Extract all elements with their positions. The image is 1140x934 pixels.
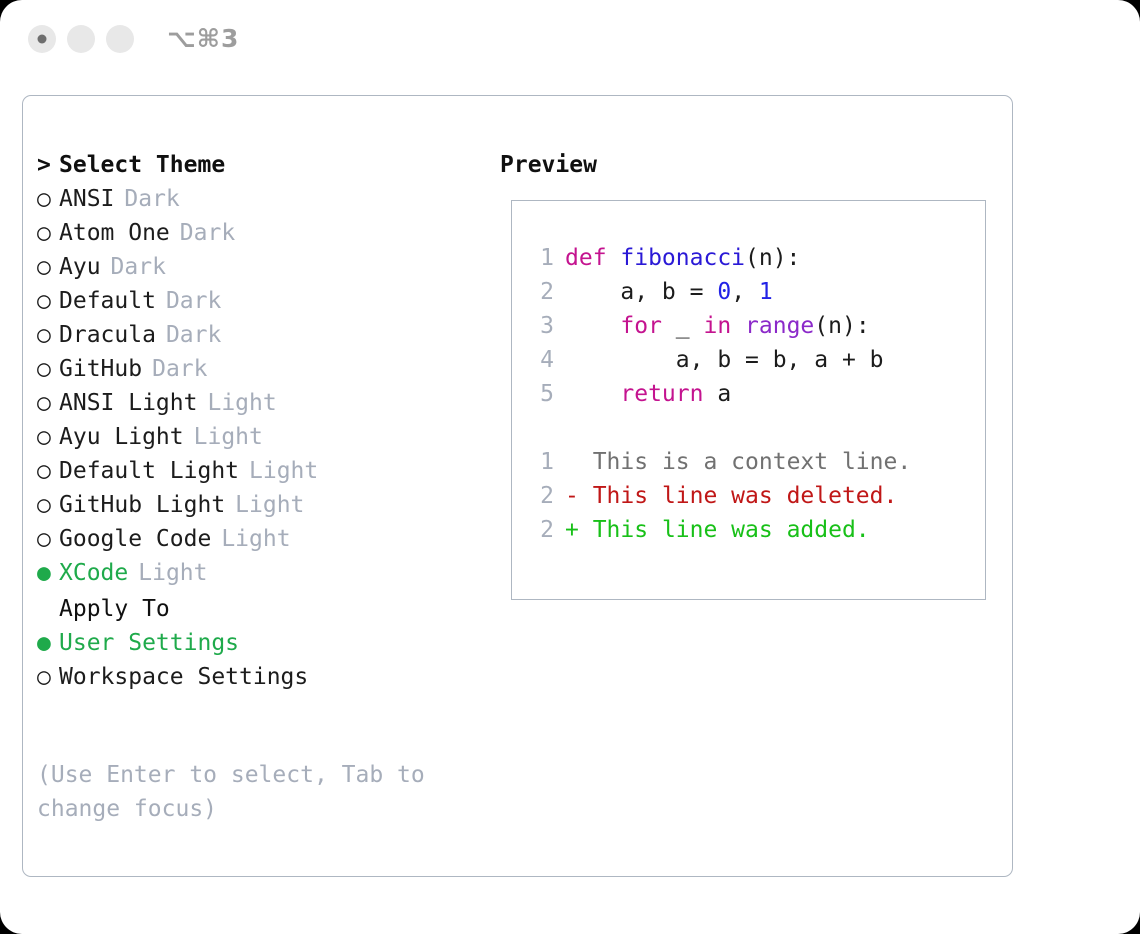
radio-selected-icon: ●: [37, 556, 59, 590]
theme-list-item[interactable]: ○Default LightLight: [37, 454, 477, 488]
theme-name-label: GitHub Light: [59, 492, 225, 518]
theme-name-label: ANSI Light: [59, 390, 197, 416]
code-token: [565, 381, 620, 407]
code-line-number: 2: [522, 275, 554, 309]
code-token: [731, 313, 745, 339]
apply-to-header: Apply To: [37, 592, 477, 626]
close-button-icon[interactable]: [28, 25, 56, 53]
main-panel: >Select Theme ○ANSIDark○Atom OneDark○Ayu…: [22, 95, 1013, 877]
apply-to-section: Apply To ●User Settings○Workspace Settin…: [37, 592, 477, 694]
preview-title: Preview: [500, 148, 1000, 182]
theme-name-label: Dracula: [59, 322, 156, 348]
code-token: _: [662, 313, 704, 339]
theme-variant-badge: Dark: [166, 288, 221, 314]
code-line: 3 for _ in range(n):: [522, 309, 977, 343]
radio-unselected-icon: ○: [37, 182, 59, 216]
theme-variant-badge: Light: [138, 560, 207, 586]
diff-line: 2- This line was deleted.: [522, 479, 977, 513]
theme-variant-badge: Light: [249, 458, 318, 484]
code-line: 4 a, b = b, a + b: [522, 343, 977, 377]
theme-variant-badge: Light: [207, 390, 276, 416]
radio-unselected-icon: ○: [37, 488, 59, 522]
theme-list-item[interactable]: ○Google CodeLight: [37, 522, 477, 556]
theme-variant-badge: Light: [194, 424, 263, 450]
code-line-number: 2: [522, 479, 554, 513]
theme-variant-badge: Dark: [152, 356, 207, 382]
radio-unselected-icon: ○: [37, 454, 59, 488]
code-token: range: [745, 313, 814, 339]
theme-name-label: GitHub: [59, 356, 142, 382]
radio-unselected-icon: ○: [37, 250, 59, 284]
theme-name-label: Default: [59, 288, 156, 314]
theme-list-item[interactable]: ○DraculaDark: [37, 318, 477, 352]
traffic-light-group: [28, 25, 134, 53]
code-line: 5 return a: [522, 377, 977, 411]
code-token: (n):: [745, 245, 800, 271]
theme-list: ○ANSIDark○Atom OneDark○AyuDark○DefaultDa…: [37, 182, 477, 590]
radio-unselected-icon: ○: [37, 318, 59, 352]
apply-to-label: User Settings: [59, 630, 239, 656]
theme-list-item[interactable]: ○AyuDark: [37, 250, 477, 284]
theme-variant-badge: Dark: [111, 254, 166, 280]
theme-name-label: Ayu: [59, 254, 101, 280]
diff-marker: -: [565, 483, 593, 509]
theme-name-label: Atom One: [59, 220, 170, 246]
theme-picker-header-label: Select Theme: [59, 152, 225, 178]
theme-variant-badge: Dark: [180, 220, 235, 246]
code-token: fibonacci: [620, 245, 745, 271]
code-line: 2 a, b = 0, 1: [522, 275, 977, 309]
theme-name-label: XCode: [59, 560, 128, 586]
radio-unselected-icon: ○: [37, 522, 59, 556]
code-line-number: 3: [522, 309, 554, 343]
code-token: a, b =: [565, 279, 717, 305]
apply-to-list: ●User Settings○Workspace Settings: [37, 626, 477, 694]
preview-section: Preview 1def fibonacci(n):2 a, b = 0, 13…: [500, 148, 1000, 182]
code-preview: 1def fibonacci(n):2 a, b = 0, 13 for _ i…: [522, 241, 977, 547]
code-token: in: [703, 313, 731, 339]
code-line: 1def fibonacci(n):: [522, 241, 977, 275]
radio-unselected-icon: ○: [37, 660, 59, 694]
minimize-button-icon[interactable]: [67, 25, 95, 53]
radio-unselected-icon: ○: [37, 352, 59, 386]
radio-unselected-icon: ○: [37, 386, 59, 420]
theme-list-item[interactable]: ○DefaultDark: [37, 284, 477, 318]
code-line-number: 1: [522, 241, 554, 275]
code-token: 0: [717, 279, 731, 305]
app-window: ⌥⌘3 >Select Theme ○ANSIDark○Atom OneDark…: [0, 0, 1140, 934]
theme-list-item[interactable]: ○Ayu LightLight: [37, 420, 477, 454]
theme-list-item[interactable]: ●XCodeLight: [37, 556, 477, 590]
theme-variant-badge: Dark: [124, 186, 179, 212]
keyboard-hint-text: (Use Enter to select, Tab to change focu…: [37, 758, 457, 826]
code-line-number: 1: [522, 445, 554, 479]
diff-marker: [565, 449, 593, 475]
code-token: (n):: [814, 313, 869, 339]
code-token: [565, 313, 620, 339]
code-token: ,: [731, 279, 759, 305]
diff-text: This is a context line.: [593, 449, 912, 475]
code-token: def: [565, 245, 620, 271]
theme-name-label: Default Light: [59, 458, 239, 484]
theme-name-label: ANSI: [59, 186, 114, 212]
code-line-number: 5: [522, 377, 554, 411]
code-line-number: 4: [522, 343, 554, 377]
code-token: a: [703, 381, 731, 407]
theme-picker: >Select Theme ○ANSIDark○Atom OneDark○Ayu…: [37, 148, 477, 590]
apply-to-item[interactable]: ○Workspace Settings: [37, 660, 477, 694]
prompt-caret-icon: >: [37, 148, 59, 182]
code-token: return: [620, 381, 703, 407]
preview-box: 1def fibonacci(n):2 a, b = 0, 13 for _ i…: [511, 200, 986, 600]
diff-text: This line was added.: [593, 517, 870, 543]
window-shortcut-label: ⌥⌘3: [167, 24, 239, 53]
theme-list-item[interactable]: ○ANSIDark: [37, 182, 477, 216]
code-line-number: 2: [522, 513, 554, 547]
theme-variant-badge: Light: [235, 492, 304, 518]
radio-unselected-icon: ○: [37, 216, 59, 250]
theme-variant-badge: Dark: [166, 322, 221, 348]
diff-line: 1 This is a context line.: [522, 445, 977, 479]
diff-line: 2+ This line was added.: [522, 513, 977, 547]
theme-variant-badge: Light: [221, 526, 290, 552]
code-blank-line: [522, 411, 977, 445]
code-token: a, b = b, a + b: [565, 347, 884, 373]
radio-unselected-icon: ○: [37, 420, 59, 454]
theme-name-label: Google Code: [59, 526, 211, 552]
title-bar: ⌥⌘3: [0, 0, 1140, 80]
theme-list-item[interactable]: ○GitHub LightLight: [37, 488, 477, 522]
theme-picker-header: >Select Theme: [37, 148, 477, 182]
diff-marker: +: [565, 517, 593, 543]
apply-to-item[interactable]: ●User Settings: [37, 626, 477, 660]
theme-list-item[interactable]: ○Atom OneDark: [37, 216, 477, 250]
theme-name-label: Ayu Light: [59, 424, 184, 450]
theme-list-item[interactable]: ○GitHubDark: [37, 352, 477, 386]
code-token: for: [620, 313, 662, 339]
code-token: 1: [759, 279, 773, 305]
apply-to-label: Workspace Settings: [59, 664, 308, 690]
radio-unselected-icon: ○: [37, 284, 59, 318]
radio-selected-icon: ●: [37, 626, 59, 660]
zoom-button-icon[interactable]: [106, 25, 134, 53]
diff-text: This line was deleted.: [593, 483, 898, 509]
theme-list-item[interactable]: ○ANSI LightLight: [37, 386, 477, 420]
